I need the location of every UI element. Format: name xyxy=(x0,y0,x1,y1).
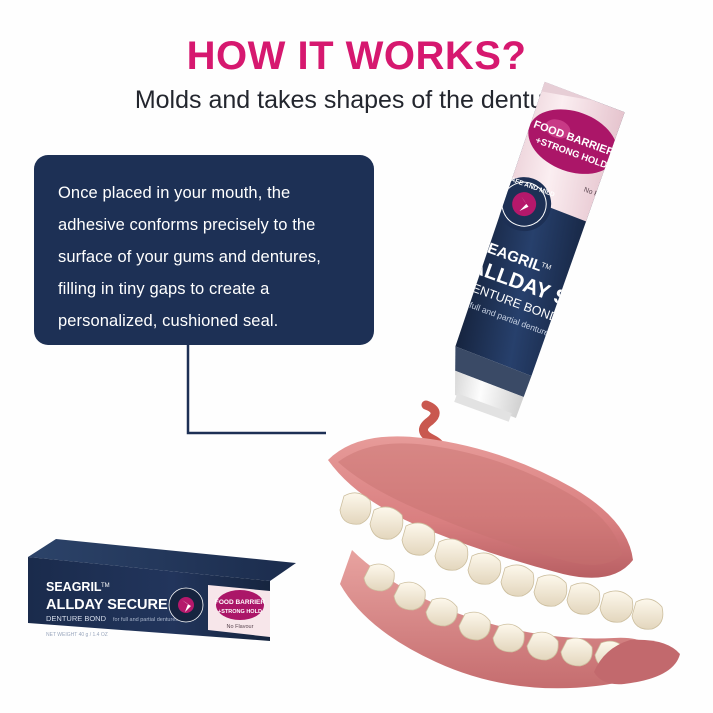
poster-canvas: HOW IT WORKS? Molds and takes shapes of … xyxy=(0,0,713,713)
box-tagline: for full and partial dentures xyxy=(113,617,178,623)
box-brand: SEAGRIL xyxy=(46,580,102,594)
callout-card: Once placed in your mouth, the adhesive … xyxy=(34,155,374,345)
box-net-weight: NET WEIGHT 40 g / 1.4 OZ xyxy=(46,632,108,638)
page-title: HOW IT WORKS? xyxy=(0,34,713,79)
callout-text: Once placed in your mouth, the adhesive … xyxy=(58,177,350,337)
box-badge-top: FOOD BARRIER xyxy=(215,599,266,606)
box-flavour-note: No Flavour xyxy=(227,624,254,630)
box-product-name: ALLDAY SECURE xyxy=(46,597,168,613)
dentures-image xyxy=(300,400,710,700)
box-badge-bottom: +STRONG HOLD xyxy=(218,609,262,615)
product-tube-image: FOOD BARRIER +STRONG HOLD No Flavour SAF… xyxy=(404,78,704,438)
box-brand-tm: TM xyxy=(101,583,110,589)
product-box-image: SEAGRIL TM ALLDAY SECURE DENTURE BOND fo… xyxy=(18,523,308,653)
box-sub-name: DENTURE BOND xyxy=(46,614,107,623)
box-seal-icon xyxy=(169,588,203,622)
